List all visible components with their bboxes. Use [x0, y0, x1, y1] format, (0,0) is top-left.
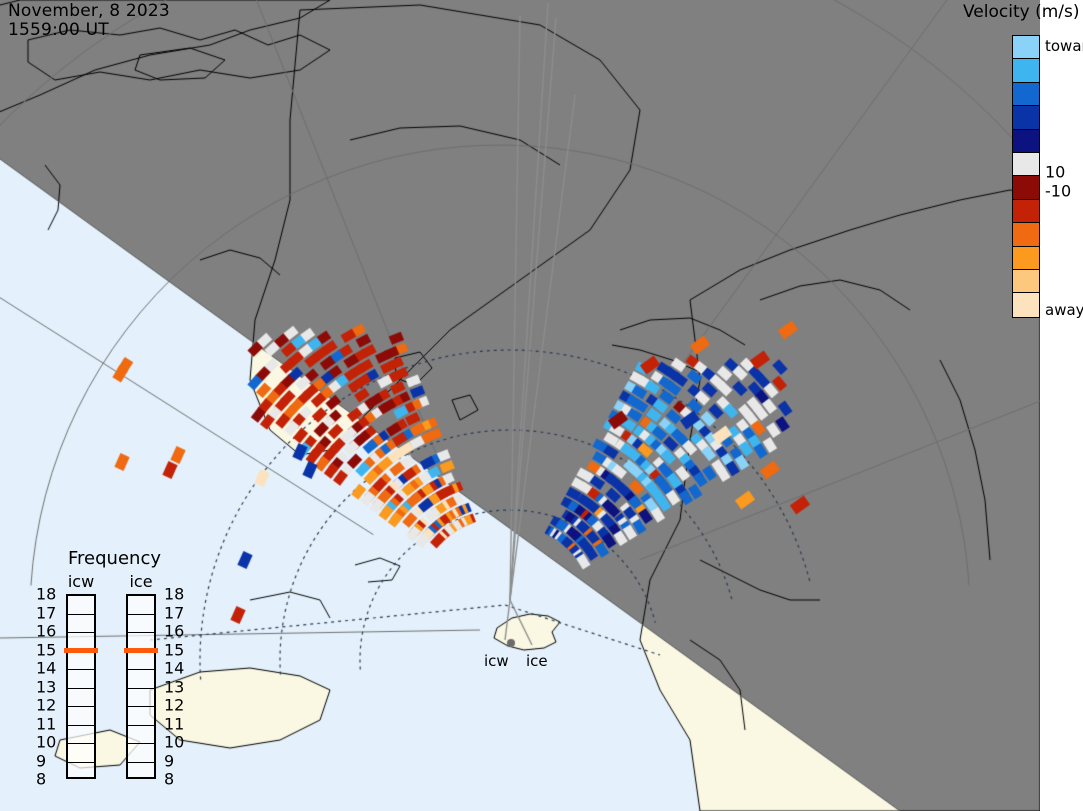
colorbar-swatch	[1013, 247, 1039, 270]
colorbar-swatch	[1013, 153, 1039, 176]
frequency-tick-label: 11	[164, 714, 184, 733]
frequency-tick-label: 11	[36, 714, 56, 733]
frequency-bar-segment	[128, 596, 154, 615]
frequency-tick-label: 12	[164, 696, 184, 715]
frequency-bar-segment	[128, 744, 154, 763]
velocity-map-figure: November, 8 2023 1559:00 UT Velocity (m/…	[0, 0, 1083, 811]
frequency-bar-segment	[68, 670, 94, 689]
frequency-tick-label: 10	[164, 733, 184, 752]
frequency-bar-segment	[128, 652, 154, 671]
frequency-tick-label: 17	[164, 603, 184, 622]
colorbar-swatch	[1013, 130, 1039, 153]
frequency-bar-segment	[128, 689, 154, 708]
frequency-bar-segment	[68, 726, 94, 745]
colorbar-swatch	[1013, 59, 1039, 82]
legend-panel-background	[1040, 0, 1083, 811]
colorbar-inner-low-label: -10	[1045, 182, 1071, 201]
colorbar-swatch	[1013, 270, 1039, 293]
frequency-bar-segment	[68, 596, 94, 615]
frequency-tick-label: 9	[36, 751, 46, 770]
frequency-tick-label: 14	[36, 659, 56, 678]
colorbar-swatch	[1013, 200, 1039, 223]
frequency-tick-label: 16	[164, 622, 184, 641]
frequency-bar-segment	[128, 615, 154, 634]
colorbar-away-label: away	[1045, 301, 1083, 319]
colorbar-swatch	[1013, 293, 1039, 316]
frequency-bar-segment	[128, 670, 154, 689]
frequency-bar-segment	[128, 763, 154, 782]
frequency-bar-segment	[68, 615, 94, 634]
colorbar-toward-label: toward	[1045, 37, 1083, 55]
frequency-tick-label: 10	[36, 733, 56, 752]
frequency-tick-label: 18	[36, 585, 56, 604]
frequency-bar-segment	[68, 763, 94, 782]
colorbar-inner-high-label: 10	[1045, 163, 1065, 182]
frequency-tick-label: 14	[164, 659, 184, 678]
timestamp: November, 8 2023 1559:00 UT	[8, 2, 170, 40]
colorbar-swatch	[1013, 106, 1039, 129]
frequency-bar-segment	[128, 707, 154, 726]
frequency-tick-label: 8	[36, 770, 46, 789]
frequency-bar-segment	[128, 726, 154, 745]
colorbar-title: Velocity (m/s)	[963, 2, 1080, 22]
frequency-legend-title: Frequency	[68, 548, 161, 569]
frequency-tick-label: 15	[164, 640, 184, 659]
colorbar-swatch	[1013, 83, 1039, 106]
frequency-bar-segment	[68, 689, 94, 708]
colorbar-swatch	[1013, 36, 1039, 59]
frequency-tick-label: 9	[164, 751, 174, 770]
frequency-column-label: icw	[60, 572, 102, 591]
frequency-bar	[66, 594, 96, 779]
frequency-marker-ice	[124, 648, 158, 653]
frequency-marker-icw	[64, 648, 98, 653]
frequency-tick-label: 12	[36, 696, 56, 715]
colorbar-swatch	[1013, 176, 1039, 199]
frequency-bar-segment	[68, 707, 94, 726]
site-label-icw: icw	[484, 652, 509, 670]
site-label-ice: ice	[526, 652, 548, 670]
frequency-bar-segment	[68, 652, 94, 671]
frequency-tick-label: 13	[36, 677, 56, 696]
timestamp-time: 1559:00 UT	[8, 21, 170, 40]
frequency-tick-label: 17	[36, 603, 56, 622]
frequency-tick-label: 18	[164, 585, 184, 604]
colorbar-swatch	[1013, 223, 1039, 246]
velocity-colorbar	[1012, 35, 1040, 318]
frequency-tick-label: 8	[164, 770, 174, 789]
frequency-bar-segment	[68, 744, 94, 763]
timestamp-date: November, 8 2023	[8, 2, 170, 21]
frequency-tick-label: 16	[36, 622, 56, 641]
frequency-tick-label: 15	[36, 640, 56, 659]
frequency-tick-label: 13	[164, 677, 184, 696]
frequency-bar	[126, 594, 156, 779]
radar-velocity-map-canvas	[0, 0, 1083, 811]
frequency-column-label: ice	[120, 572, 162, 591]
